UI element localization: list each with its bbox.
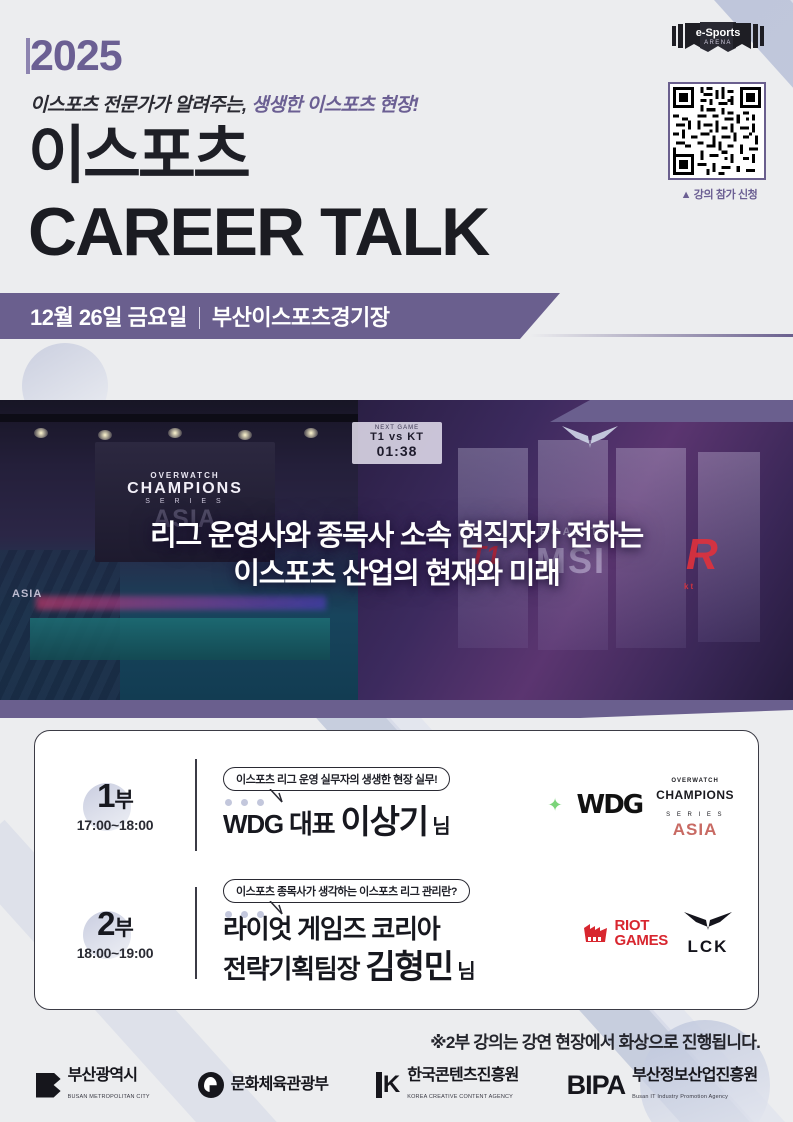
session-2-part-number: 2부 <box>35 905 195 943</box>
session-1-speaker-prefix: WDG 대표 <box>223 809 340 839</box>
session-1-info: 이스포츠 리그 운영 실무자의 생생한 현장 실무! WDG 대표 이상기 님 <box>197 767 547 842</box>
session-1-part-number: 1부 <box>35 777 195 815</box>
qr-code[interactable] <box>668 82 766 180</box>
photo-top-accent-bar <box>550 400 793 422</box>
session-2-logos: RIOT GAMES LCK <box>583 910 760 957</box>
banner-separator <box>199 307 200 329</box>
event-venue: 부산이스포츠경기장 <box>212 305 390 330</box>
stage-lamp <box>34 428 48 438</box>
lighting-truss <box>0 414 358 422</box>
kocca-kr: 한국콘텐츠진흥원 <box>407 1067 518 1084</box>
sponsor-mcst: 문화체육관광부 <box>198 1072 328 1098</box>
sparkle-icon: ✦ <box>547 795 562 816</box>
session-1-speaker-name: 이상기 <box>340 803 427 840</box>
stage-lamp <box>304 428 318 438</box>
tagline: 이스포츠 전문가가 알려주는, 생생한 이스포츠 현장! <box>30 90 418 117</box>
tagline-purple-part: 생생한 이스포츠 현장! <box>247 95 419 116</box>
player-desk <box>30 618 330 660</box>
title-english: CAREER TALK <box>28 198 488 266</box>
stage-lamp <box>238 430 252 440</box>
session-2-part-digit: 2 <box>97 905 114 942</box>
session-1-bubble: 이스포츠 리그 운영 실무자의 생생한 현장 실무! <box>223 767 450 791</box>
date-venue-text: 12월 26일 금요일부산이스포츠경기장 <box>30 300 390 332</box>
date-venue-banner: 12월 26일 금요일부산이스포츠경기장 <box>0 293 560 339</box>
owcs-screen-series: S E R I E S <box>145 498 224 505</box>
busan-city-icon <box>36 1073 61 1098</box>
stage-glow <box>36 596 326 610</box>
hero-overlay-line-1: 리그 운영사와 종목사 소속 현직자가 전하는 <box>0 518 793 556</box>
owcs-screen-overwatch: OVERWATCH <box>150 471 219 480</box>
poster-header: 2025 이스포츠 전문가가 알려주는, 생생한 이스포츠 현장! 이스포츠 C… <box>0 0 793 400</box>
lck-bird-icon <box>682 910 734 932</box>
broadcast-notice: ※2부 강의는 강연 현장에서 화상으로 진행됩니다. <box>0 1028 760 1053</box>
busan-city-kr: 부산광역시 <box>68 1067 138 1084</box>
qr-caption: ▲ 강의 참가 신청 <box>664 186 774 202</box>
session-row-2: 2부 18:00~19:00 이스포츠 종목사가 생각하는 이스포츠 리그 관리… <box>35 873 760 993</box>
sessions-card: 1부 17:00~18:00 이스포츠 리그 운영 실무자의 생생한 현장 실무… <box>34 730 759 1010</box>
session-2-dots-decor <box>225 905 273 923</box>
poster-root: 2025 이스포츠 전문가가 알려주는, 생생한 이스포츠 현장! 이스포츠 C… <box>0 0 793 1122</box>
session-row-1: 1부 17:00~18:00 이스포츠 리그 운영 실무자의 생생한 현장 실무… <box>35 745 760 865</box>
session-2-time: 18:00~19:00 <box>35 945 195 961</box>
session-2-speaker-suffix: 님 <box>453 961 475 983</box>
session-2-speaker-prefix: 전략기획팀장 <box>223 954 365 984</box>
owcs-logo-line-1: OVERWATCH <box>671 778 718 784</box>
taegeuk-icon <box>198 1072 224 1098</box>
session-1-part-column: 1부 17:00~18:00 <box>35 777 195 833</box>
busan-city-en: BUSAN METROPOLITAN CITY <box>68 1094 150 1100</box>
scorebar-teams: T1 vs KT <box>352 431 442 443</box>
session-1-logos: ✦ WDG OVERWATCH CHAMPIONS S E R I E S AS… <box>547 770 760 839</box>
mcst-kr: 문화체육관광부 <box>231 1076 328 1094</box>
sponsor-kocca: K 한국콘텐츠진흥원 KOREA CREATIVE CONTENT AGENCY <box>376 1067 518 1103</box>
sponsor-logos: 부산광역시 BUSAN METROPOLITAN CITY 문화체육관광부 K … <box>0 1062 793 1108</box>
riot-games-text: RIOT GAMES <box>614 918 668 948</box>
bipa-en: Busan IT Industry Promotion Agency <box>632 1094 728 1100</box>
kocca-en: KOREA CREATIVE CONTENT AGENCY <box>407 1094 513 1100</box>
wdg-logo: WDG <box>577 790 643 820</box>
owcs-logo-line-3: S E R I E S <box>666 812 724 818</box>
sponsor-bipa: BIPA 부산정보산업진흥원 Busan IT Industry Promoti… <box>567 1067 758 1103</box>
stage-lamp <box>168 428 182 438</box>
session-1-time: 17:00~18:00 <box>35 817 195 833</box>
session-2-part-suffix: 부 <box>115 917 133 940</box>
hero-overlay-line-2: 이스포츠 산업의 현재와 미래 <box>0 556 793 594</box>
owcs-logo-line-4: ASIA <box>673 820 718 839</box>
bipa-kr: 부산정보산업진흥원 <box>632 1067 757 1084</box>
session-2-speaker-org: 라이엇 게임즈 코리아 <box>223 913 583 946</box>
session-1-part-suffix: 부 <box>115 789 133 812</box>
kocca-icon: K <box>376 1072 400 1098</box>
session-2-part-column: 2부 18:00~19:00 <box>35 905 195 961</box>
session-2-bubble: 이스포츠 종목사가 생각하는 이스포츠 리그 관리란? <box>223 879 470 903</box>
tagline-dark-part: 이스포츠 전문가가 알려주는, <box>30 95 247 116</box>
lck-logo: LCK <box>682 910 734 957</box>
busan-city-text: 부산광역시 BUSAN METROPOLITAN CITY <box>68 1067 150 1103</box>
owcs-asia-logo: OVERWATCH CHAMPIONS S E R I E S ASIA <box>656 770 734 839</box>
owcs-screen-champions: CHAMPIONS <box>127 480 243 498</box>
riot-text-line-2: GAMES <box>614 932 668 949</box>
svg-text:ARENA: ARENA <box>704 40 732 46</box>
lck-bird-mark-photo <box>560 424 620 450</box>
riot-fist-icon <box>583 922 609 944</box>
scorebar-timer: 01:38 <box>352 443 442 459</box>
session-2-speaker-role-name: 전략기획팀장 김형민 님 <box>223 946 583 987</box>
title-korean: 이스포츠 <box>28 125 248 188</box>
event-date: 12월 26일 금요일 <box>30 305 187 330</box>
svg-text:e-Sports: e-Sports <box>696 27 741 39</box>
session-1-part-digit: 1 <box>97 777 114 814</box>
bipa-text: 부산정보산업진흥원 Busan IT Industry Promotion Ag… <box>632 1067 757 1103</box>
match-scorebar: NEXT GAME T1 vs KT 01:38 <box>352 422 442 464</box>
banner-trailing-line <box>530 334 793 337</box>
session-2-speaker-name: 김형민 <box>365 948 452 985</box>
sponsor-busan-city: 부산광역시 BUSAN METROPOLITAN CITY <box>36 1067 150 1103</box>
stage-lamp <box>98 430 112 440</box>
owcs-logo-line-2: CHAMPIONS <box>656 788 734 802</box>
lck-wordmark: LCK <box>682 937 734 957</box>
session-1-dots-decor <box>225 793 273 811</box>
esports-arena-logo: e-Sports ARENA <box>672 22 764 56</box>
session-2-info: 이스포츠 종목사가 생각하는 이스포츠 리그 관리란? 라이엇 게임즈 코리아 … <box>197 879 583 987</box>
year-label: 2025 <box>30 32 122 81</box>
session-1-speaker-suffix: 님 <box>428 816 450 838</box>
riot-games-logo: RIOT GAMES <box>583 918 668 948</box>
bipa-wordmark: BIPA <box>567 1072 626 1099</box>
kocca-text: 한국콘텐츠진흥원 KOREA CREATIVE CONTENT AGENCY <box>407 1067 518 1103</box>
hero-overlay-text: 리그 운영사와 종목사 소속 현직자가 전하는 이스포츠 산업의 현재와 미래 <box>0 518 793 593</box>
session-2-speaker: 라이엇 게임즈 코리아 전략기획팀장 김형민 님 <box>223 913 583 987</box>
